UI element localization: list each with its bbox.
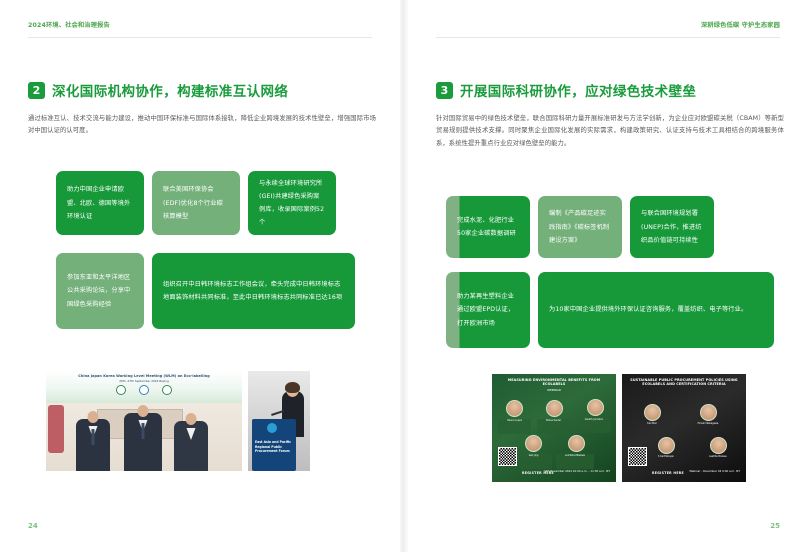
left-page: 2024环境、社会和治理报告 2 深化国际机构协作，构建标准互认网络 通过标准互… xyxy=(0,0,400,552)
podium-banner-text: East Asia and Pacific Regional Public Pr… xyxy=(255,440,291,453)
info-card: 为10家中国企业提供境外环保认证咨询服务，覆盖纺织、电子等行业。 xyxy=(538,272,774,348)
delegate-head xyxy=(186,413,197,425)
register-link[interactable]: REGISTER HERE xyxy=(652,471,684,475)
card-row-left-2: 参加东亚和太平洋地区公共采购论坛，分享中国绿色采购经验 组织召开中日韩环境标志工… xyxy=(56,253,355,329)
page-number-right: 25 xyxy=(770,522,780,530)
meeting-banner-subtitle: 26th -27th September 2024 Beijing xyxy=(46,378,242,383)
poster-datetime: Webinar - December 04 9:00 a.m. IST xyxy=(689,470,740,474)
qr-code-icon[interactable] xyxy=(498,447,517,466)
poster-datetime: 14th November 2024 10:00 a.m. – 11:30 a.… xyxy=(543,470,610,474)
forum-logo-icon xyxy=(267,423,277,433)
speaker-caption: Lembika Mbekwe xyxy=(556,455,594,458)
info-card: 参加东亚和太平洋地区公共采购论坛，分享中国绿色采购经验 xyxy=(56,253,144,329)
delegate-figure xyxy=(76,419,110,471)
speaker-caption: Laetitia Boileau xyxy=(698,456,738,459)
japan-ecolabel-icon xyxy=(139,385,149,395)
section-number-badge-right: 3 xyxy=(436,82,453,99)
poster-strip-right: MEASURING ENVIRONMENTAL BENEFITS FROM EC… xyxy=(492,374,746,482)
info-card: 助力中国企业申请欧盟、北欧、德国等境外环境认证 xyxy=(56,171,144,235)
info-card: 组织召开中日韩环境标志工作组会议，牵头完成中日韩环境标志地面装饰材料共同标准，至… xyxy=(152,253,355,329)
info-card: 编制《产品碳足迹实践指南》《碳标签机制建设方案》 xyxy=(538,196,622,258)
decor-plant xyxy=(48,405,64,453)
delegate-tie xyxy=(142,423,145,439)
delegate-tie xyxy=(92,429,95,445)
poster-title: MEASURING ENVIRONMENTAL BENEFITS FROM EC… xyxy=(497,378,611,387)
section-title-right: 开展国际科研协作，应对绿色技术壁垒 xyxy=(460,80,696,100)
page-number-left: 24 xyxy=(28,522,38,530)
right-page: 深耕绿色低碳 守护生态家园 3 开展国际科研协作，应对绿色技术壁垒 针对国际贸易… xyxy=(408,0,808,552)
section-heading-left: 2 深化国际机构协作，构建标准互认网络 xyxy=(28,80,378,100)
speaker-caption: Gao Jing xyxy=(515,455,552,458)
info-card: 助力某再生塑料企业通过欧盟EPD认证，打开欧洲市场 xyxy=(446,272,530,348)
running-header-left: 2024环境、社会和治理报告 xyxy=(28,20,110,34)
card-row-left-1: 助力中国企业申请欧盟、北欧、德国等境外环境认证 联合美国环保协会(EDF)优化8… xyxy=(56,171,355,235)
delegate-figure xyxy=(174,421,208,471)
korea-ecolabel-icon xyxy=(162,385,172,395)
speaker-caption: Yelena Lopez xyxy=(498,420,531,423)
speaker-caption: Yuki Mori xyxy=(632,423,672,426)
document-spread: 2024环境、社会和治理报告 2 深化国际机构协作，构建标准互认网络 通过标准互… xyxy=(0,0,808,552)
delegate-head xyxy=(138,405,149,417)
speaker-hair xyxy=(285,382,300,393)
info-card: 完成水泥、化肥行业50家企业碳数据调研 xyxy=(446,196,530,258)
section-heading-right: 3 开展国际科研协作，应对绿色技术壁垒 xyxy=(436,80,786,100)
speaker-avatar xyxy=(546,400,563,417)
info-card: 联合美国环保协会(EDF)优化8个行业碳核算模型 xyxy=(152,171,240,235)
delegate-figure xyxy=(124,413,162,471)
speaker-avatar xyxy=(700,404,717,421)
public-procurement-forum-photo: East Asia and Pacific Regional Public Pr… xyxy=(248,371,310,471)
ecolabel-logo-group xyxy=(46,385,242,395)
meeting-banner: China Japan Korea Working Level Meeting … xyxy=(46,371,242,403)
section-paragraph-left: 通过标准互认、技术交流与能力建设，推动中国环保标准与国际体系接轨，降低企业跨境发… xyxy=(28,113,376,138)
speaker-avatar xyxy=(568,435,585,452)
speaker-caption: Hiroshi Nakagawa xyxy=(688,423,728,426)
page-gutter xyxy=(400,0,408,552)
card-row-right-1: 完成水泥、化肥行业50家企业碳数据调研 编制《产品碳足迹实践指南》《碳标签机制建… xyxy=(446,196,774,258)
photo-strip-left: China Japan Korea Working Level Meeting … xyxy=(46,371,310,471)
meeting-banner-title: China Japan Korea Working Level Meeting … xyxy=(46,371,242,378)
delegate-head xyxy=(88,411,99,423)
speaker-avatar xyxy=(644,404,661,421)
qr-code-icon[interactable] xyxy=(628,447,647,466)
header-divider-left xyxy=(28,37,372,38)
section-paragraph-right: 针对国际贸易中的绿色技术壁垒，联合国际科研力量开展标准研发与方法学创新，为企业应… xyxy=(436,113,784,150)
info-card: 与永续全球环境研究所(GEI)共建绿色采购案例库，收录国际案例52个 xyxy=(248,171,336,235)
header-divider-right xyxy=(436,37,780,38)
card-row-right-2: 助力某再生塑料企业通过欧盟EPD认证，打开欧洲市场 为10家中国企业提供境外环保… xyxy=(446,272,774,348)
speaker-caption: Tobias Sauter xyxy=(537,420,570,423)
poster-title: SUSTAINABLE PUBLIC PROCUREMENT POLICIES … xyxy=(627,378,741,387)
speaker-avatar xyxy=(658,437,675,454)
poster-subtitle: WEBINAR xyxy=(497,388,611,392)
china-japan-korea-meeting-photo: China Japan Korea Working Level Meeting … xyxy=(46,371,242,471)
webinar-poster-public-procurement: SUSTAINABLE PUBLIC PROCUREMENT POLICIES … xyxy=(622,374,746,482)
speaker-avatar xyxy=(710,437,727,454)
section-title-left: 深化国际机构协作，构建标准互认网络 xyxy=(52,80,288,100)
delegate-shirt xyxy=(187,428,196,440)
webinar-poster-measuring-benefits: MEASURING ENVIRONMENTAL BENEFITS FROM EC… xyxy=(492,374,616,482)
running-header-right: 深耕绿色低碳 守护生态家园 xyxy=(701,20,780,34)
speaker-caption: S Karthikeyan xyxy=(646,456,686,459)
speaker-caption: Gareth Johnston xyxy=(577,419,611,422)
section-number-badge-left: 2 xyxy=(28,82,45,99)
info-card: 与联合国环境规划署(UNEP)合作，推进纺织品价值链可持续性 xyxy=(630,196,714,258)
speaker-avatar xyxy=(587,399,604,416)
speaker-avatar xyxy=(506,400,523,417)
china-ecolabel-icon xyxy=(116,385,126,395)
speaker-avatar xyxy=(525,435,542,452)
